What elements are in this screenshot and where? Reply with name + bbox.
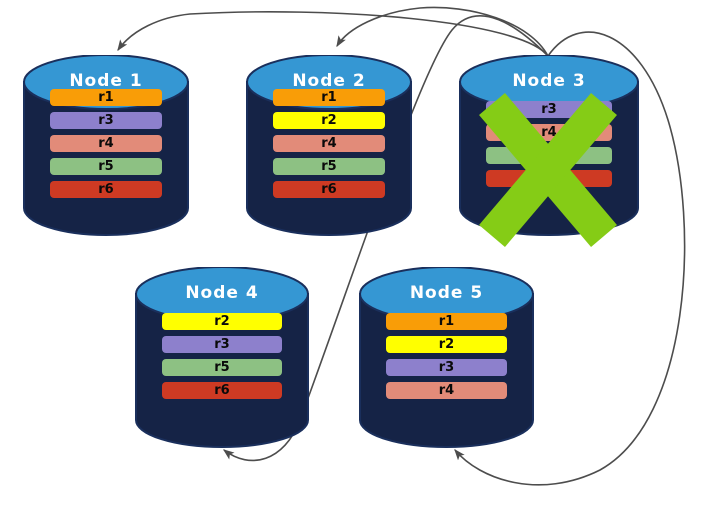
replica-r4[interactable]: r4 xyxy=(273,135,385,152)
failed-node-x xyxy=(472,84,624,256)
replica-r3[interactable]: r3 xyxy=(162,336,282,353)
replica-r5[interactable]: r5 xyxy=(50,158,162,175)
node-4-replica-list: r2r3r5r6 xyxy=(134,313,310,405)
node-1-label: Node 1 xyxy=(22,71,190,91)
node-2-replica-list: r1r2r4r5r6 xyxy=(245,89,413,204)
replica-r3[interactable]: r3 xyxy=(50,112,162,129)
replica-r5[interactable]: r5 xyxy=(273,158,385,175)
replica-r1[interactable]: r1 xyxy=(50,89,162,106)
diagram-canvas: Node 1r1r3r4r5r6Node 2r1r2r4r5r6Node 3r3… xyxy=(0,0,708,508)
node-1-replica-list: r1r3r4r5r6 xyxy=(22,89,190,204)
replica-r2[interactable]: r2 xyxy=(162,313,282,330)
node-4[interactable]: Node 4r2r3r5r6 xyxy=(134,267,310,447)
replica-r4[interactable]: r4 xyxy=(50,135,162,152)
node-2[interactable]: Node 2r1r2r4r5r6 xyxy=(245,55,413,235)
node-5[interactable]: Node 5r1r2r3r4 xyxy=(358,267,535,447)
replica-r6[interactable]: r6 xyxy=(273,181,385,198)
node-5-replica-list: r1r2r3r4 xyxy=(358,313,535,405)
node3-to-node2 xyxy=(337,7,548,56)
node-2-label: Node 2 xyxy=(245,71,413,91)
replica-r1[interactable]: r1 xyxy=(386,313,507,330)
replica-r6[interactable]: r6 xyxy=(162,382,282,399)
node-5-label: Node 5 xyxy=(358,283,535,303)
replica-r5[interactable]: r5 xyxy=(162,359,282,376)
replica-r6[interactable]: r6 xyxy=(50,181,162,198)
node-4-label: Node 4 xyxy=(134,283,310,303)
replica-r1[interactable]: r1 xyxy=(273,89,385,106)
node3-to-node1 xyxy=(118,12,548,56)
replica-r4[interactable]: r4 xyxy=(386,382,507,399)
replica-r3[interactable]: r3 xyxy=(386,359,507,376)
node-1[interactable]: Node 1r1r3r4r5r6 xyxy=(22,55,190,235)
replica-r2[interactable]: r2 xyxy=(386,336,507,353)
replica-r2[interactable]: r2 xyxy=(273,112,385,129)
node-3[interactable]: Node 3r3r4r5r6 xyxy=(458,55,640,235)
